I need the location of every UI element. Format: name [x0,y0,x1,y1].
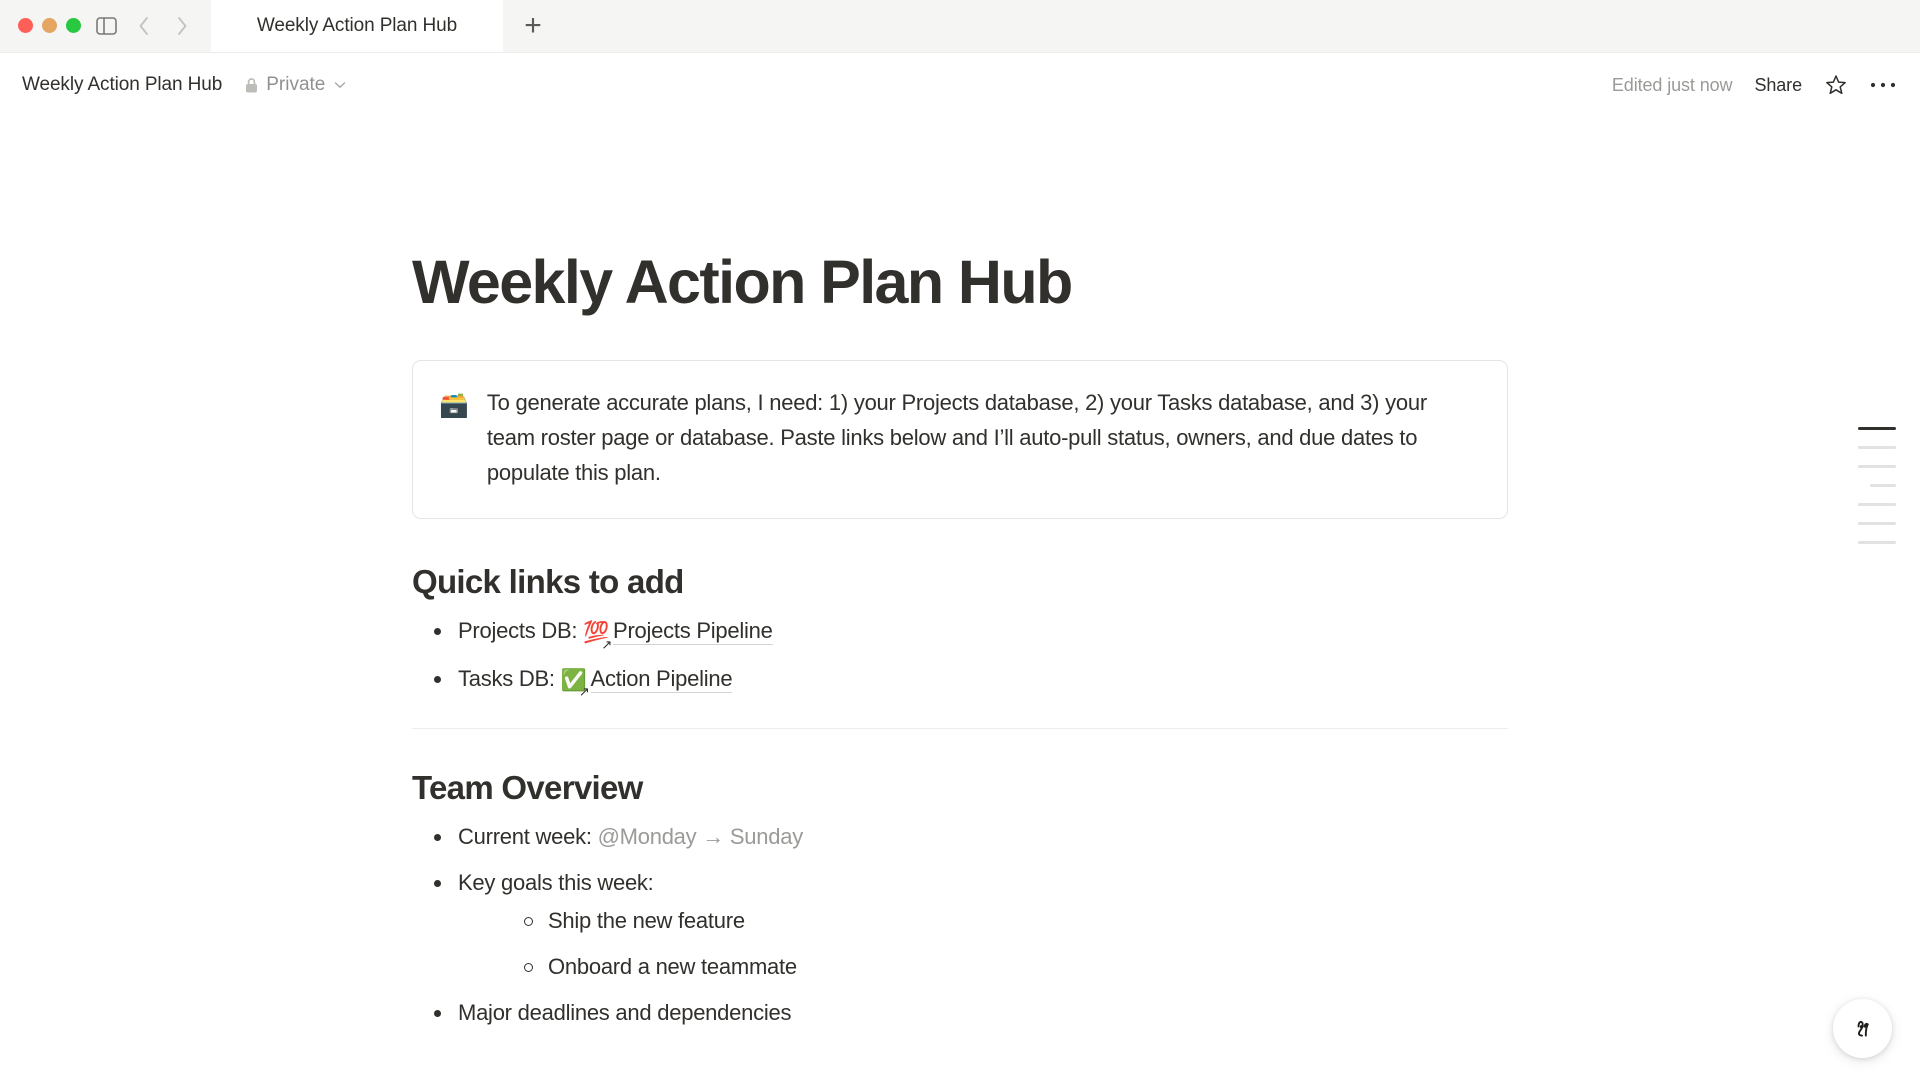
table-of-contents-minimap[interactable] [1858,427,1896,544]
star-icon[interactable] [1824,73,1848,97]
list-item-clipped: Major deadlines and dependencies [412,997,1508,1029]
toc-line[interactable] [1858,522,1896,525]
traffic-lights [18,18,81,33]
browser-tab-bar: Weekly Action Plan Hub + [0,0,1920,53]
list-item: Onboard a new teammate [502,951,1508,983]
toc-line[interactable] [1858,427,1896,430]
page-content: Weekly Action Plan Hub 🗃️ To generate ac… [412,117,1508,1029]
page-scroll-area[interactable]: Weekly Action Plan Hub 🗃️ To generate ac… [0,117,1920,1080]
edited-status: Edited just now [1612,75,1733,96]
card-file-box-icon: 🗃️ [439,387,469,490]
quick-links-list: Projects DB: 💯↗Projects Pipeline Tasks D… [412,615,1508,696]
toc-line[interactable] [1870,484,1896,487]
link-projects-pipeline[interactable]: Projects Pipeline [613,618,773,645]
heading-quick-links[interactable]: Quick links to add [412,563,1508,601]
sidebar-toggle-icon[interactable] [93,13,119,39]
callout-text: To generate accurate plans, I need: 1) y… [487,386,1479,490]
link-arrow-icon: ↗ [579,685,590,698]
tasks-db-label: Tasks DB: [458,666,561,691]
back-icon[interactable] [131,13,157,39]
page-header-bar: Weekly Action Plan Hub Private Edited ju… [0,53,1920,117]
page-title[interactable]: Weekly Action Plan Hub [412,249,1508,316]
projects-db-label: Projects DB: [458,618,583,643]
new-tab-button[interactable]: + [503,0,563,52]
share-button[interactable]: Share [1754,75,1802,96]
breadcrumb[interactable]: Weekly Action Plan Hub [22,74,222,96]
team-overview-list: Current week: @Monday → Sunday Key goals… [412,821,1508,1028]
link-action-pipeline[interactable]: Action Pipeline [591,666,733,693]
close-window-button[interactable] [18,18,33,33]
list-item-key-goals: Key goals this week: Ship the new featur… [412,867,1508,983]
callout-block[interactable]: 🗃️ To generate accurate plans, I need: 1… [412,360,1508,519]
forward-icon[interactable] [169,13,195,39]
link-arrow-icon: ↗ [601,638,612,651]
toc-line[interactable] [1858,465,1896,468]
window-controls-group [0,0,211,52]
list-item-current-week: Current week: @Monday → Sunday [412,821,1508,853]
privacy-label: Private [266,74,325,96]
key-goals-sublist: Ship the new feature Onboard a new teamm… [502,905,1508,983]
lock-icon [244,77,259,94]
zoom-window-button[interactable] [66,18,81,33]
tab-weekly-action-plan-hub[interactable]: Weekly Action Plan Hub [211,0,503,52]
notion-ai-button[interactable] [1833,999,1892,1058]
list-item: Ship the new feature [502,905,1508,937]
list-item: Projects DB: 💯↗Projects Pipeline [412,615,1508,648]
current-week-value[interactable]: @Monday → Sunday [598,824,803,849]
page-actions: Edited just now Share [1612,73,1896,97]
toc-line[interactable] [1858,446,1896,449]
minimize-window-button[interactable] [42,18,57,33]
toc-line[interactable] [1858,503,1896,506]
check-mark-icon: ✅↗ [561,666,587,696]
list-item: Tasks DB: ✅↗Action Pipeline [412,663,1508,696]
key-goals-label: Key goals this week: [458,870,654,895]
heading-team-overview[interactable]: Team Overview [412,769,1508,807]
divider [412,728,1508,729]
current-week-label: Current week: [458,824,598,849]
hundred-points-icon: 💯↗ [583,618,609,648]
notion-ai-face-icon [1848,1014,1878,1044]
toc-line[interactable] [1858,541,1896,544]
privacy-selector[interactable]: Private [244,74,346,96]
chevron-down-icon [332,81,346,89]
more-horizontal-icon[interactable] [1870,81,1896,89]
tab-label: Weekly Action Plan Hub [257,15,457,37]
